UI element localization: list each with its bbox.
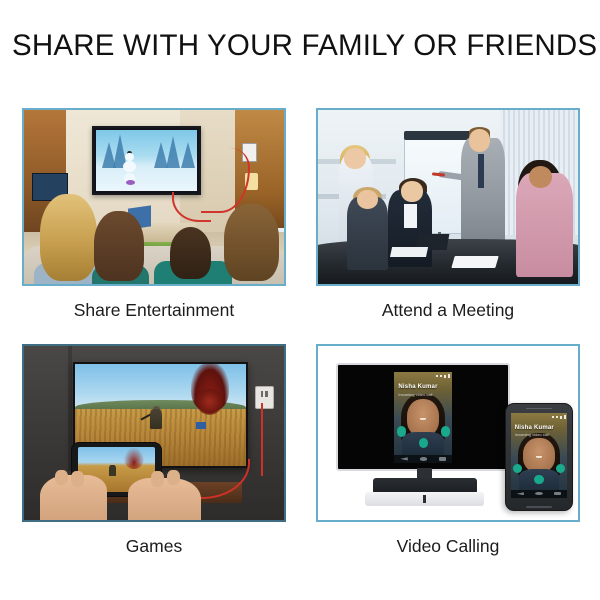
phone-earpiece bbox=[526, 408, 552, 410]
presenter-tie bbox=[478, 154, 484, 189]
decline-call-button[interactable] bbox=[556, 464, 565, 473]
tv-call-screen: Nisha Kumar Incoming video call bbox=[394, 372, 452, 463]
phone-game-character bbox=[109, 465, 116, 476]
pine-tree-icon bbox=[166, 136, 180, 168]
person-head-blonde bbox=[40, 194, 97, 281]
feature-grid: Share Entertainment bbox=[0, 108, 600, 588]
photo-frame-games bbox=[22, 344, 286, 522]
decline-call-button[interactable] bbox=[441, 426, 450, 436]
feature-card-share-entertainment[interactable]: Share Entertainment bbox=[14, 108, 294, 321]
presenter-head bbox=[469, 129, 490, 152]
page-title: SHARE WITH YOUR FAMILY OR FRIENDS bbox=[12, 29, 592, 63]
android-navigation-bar[interactable] bbox=[394, 455, 452, 463]
call-subtitle: Incoming video call bbox=[515, 432, 564, 438]
snowman-body bbox=[123, 161, 136, 172]
right-woman-head bbox=[529, 166, 552, 189]
right-hand bbox=[128, 478, 201, 520]
seated-man-shirt bbox=[404, 204, 417, 228]
photo-conference-room bbox=[318, 110, 578, 284]
feature-card-video-calling[interactable]: Nisha Kumar Incoming video call bbox=[308, 344, 588, 557]
phone-call-screen: Nisha Kumar Incoming video call bbox=[511, 413, 567, 498]
answer-call-button[interactable] bbox=[513, 464, 522, 473]
answer-call-button[interactable] bbox=[397, 426, 406, 436]
right-woman-body bbox=[516, 173, 573, 277]
photo-game-mirroring bbox=[24, 346, 284, 520]
feature-card-attend-a-meeting[interactable]: Attend a Meeting bbox=[308, 108, 588, 321]
photo-frame-share-entertainment bbox=[22, 108, 286, 286]
home-icon[interactable] bbox=[535, 492, 542, 495]
video-call-tv: Nisha Kumar Incoming video call bbox=[336, 363, 510, 471]
game-red-smoke-secondary bbox=[196, 388, 223, 415]
pine-tree-icon bbox=[181, 142, 195, 168]
person-head-brunette bbox=[94, 211, 143, 281]
recent-apps-icon[interactable] bbox=[439, 457, 447, 460]
finger bbox=[71, 471, 84, 487]
photo-video-call: Nisha Kumar Incoming video call bbox=[318, 346, 578, 520]
feature-card-games[interactable]: Games bbox=[14, 344, 294, 557]
snowman-character bbox=[122, 153, 137, 183]
person-head-man bbox=[224, 204, 279, 281]
game-character-body bbox=[150, 409, 162, 429]
feature-caption-share-entertainment: Share Entertainment bbox=[14, 299, 294, 321]
finger bbox=[55, 470, 68, 486]
photo-frame-attend-a-meeting bbox=[316, 108, 580, 286]
back-icon[interactable] bbox=[400, 457, 408, 460]
document-page bbox=[390, 247, 429, 257]
tv-stand-slot bbox=[423, 495, 426, 504]
tv-screen-movie bbox=[96, 130, 197, 192]
document-page bbox=[451, 256, 499, 268]
caller-smile bbox=[536, 456, 542, 458]
phone-game-smoke bbox=[124, 448, 144, 469]
back-icon[interactable] bbox=[517, 492, 524, 495]
caller-name: Nisha Kumar bbox=[398, 383, 448, 391]
feature-caption-video-calling: Video Calling bbox=[308, 535, 588, 557]
wall-mounted-tv bbox=[92, 126, 201, 196]
whiteboard-header-bar bbox=[404, 131, 477, 140]
video-call-smartphone[interactable]: Nisha Kumar Incoming video call bbox=[505, 403, 573, 511]
feature-caption-attend-a-meeting: Attend a Meeting bbox=[308, 299, 588, 321]
phone-home-button[interactable] bbox=[526, 506, 552, 508]
photo-family-watching-tv bbox=[24, 110, 284, 284]
game-supply-crate bbox=[196, 422, 206, 429]
finger bbox=[167, 470, 180, 486]
photo-frame-video-calling: Nisha Kumar Incoming video call bbox=[316, 344, 580, 522]
home-icon[interactable] bbox=[420, 457, 428, 460]
person-head-child bbox=[170, 227, 212, 279]
red-hdmi-cable-vertical bbox=[261, 403, 271, 476]
android-navigation-bar[interactable] bbox=[511, 490, 567, 498]
feature-caption-games: Games bbox=[14, 535, 294, 557]
caller-face bbox=[407, 399, 439, 436]
recent-apps-icon[interactable] bbox=[554, 492, 561, 495]
standing-woman-head bbox=[344, 148, 366, 169]
flower-icon bbox=[126, 180, 135, 185]
end-call-button[interactable] bbox=[534, 475, 543, 484]
finger bbox=[151, 471, 164, 487]
caller-face bbox=[523, 438, 555, 472]
call-subtitle: Incoming video call bbox=[398, 392, 448, 398]
caller-smile bbox=[420, 418, 426, 420]
seated-woman-head bbox=[357, 190, 378, 209]
